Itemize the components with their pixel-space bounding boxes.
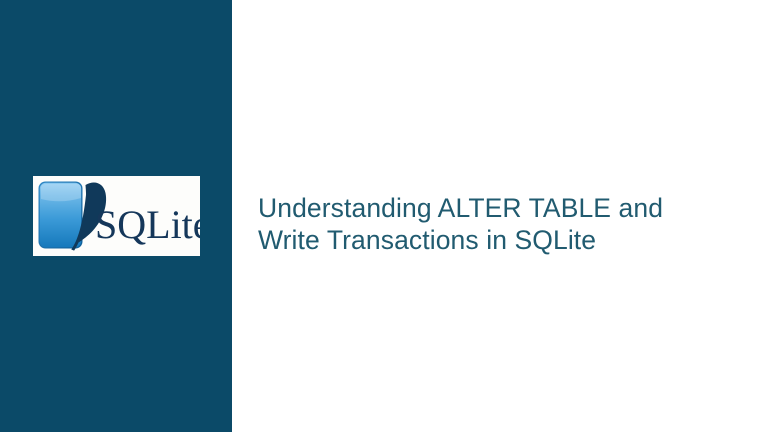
title-block: Understanding ALTER TABLE and Write Tran… [258,193,750,257]
slide-canvas: SQLite Understanding ALTER TABLE and Wri… [0,0,768,432]
sqlite-logo-icon: SQLite [33,176,200,256]
sqlite-logo-card: SQLite [33,176,200,256]
page-title: Understanding ALTER TABLE and Write Tran… [258,193,750,257]
sqlite-wordmark: SQLite [95,202,200,247]
sqlite-logo: SQLite [33,176,200,256]
